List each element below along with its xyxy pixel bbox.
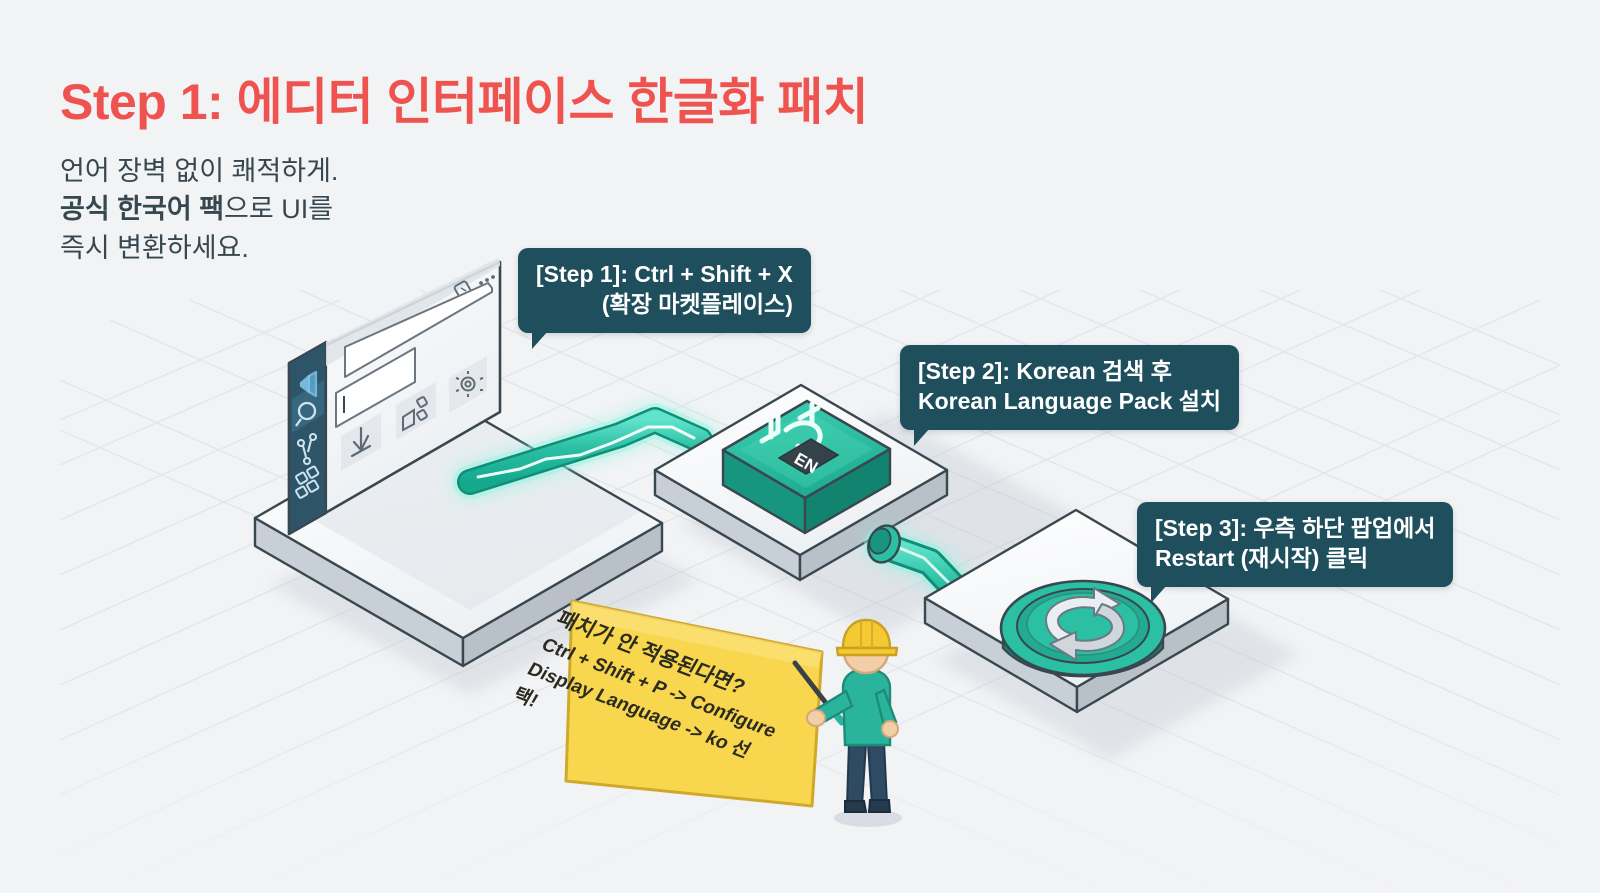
callout-step-3-line-2: Restart (재시작) 클릭 [1155, 544, 1435, 574]
callout-step-1-line-2: (확장 마켓플레이스) [536, 290, 793, 320]
callout-step-1-line-1: [Step 1]: Ctrl + Shift + X [536, 260, 793, 290]
page-title: Step 1: 에디터 인터페이스 한글화 패치 [60, 62, 868, 134]
subtitle-line-2: 공식 한국어 팩으로 UI를 [60, 190, 338, 228]
subtitle-line-1: 언어 장벽 없이 쾌적하게. [60, 152, 338, 190]
restart-node[interactable] [1001, 581, 1165, 676]
callout-step-3-line-1: [Step 3]: 우측 하단 팝업에서 [1155, 514, 1435, 544]
callout-step-2: [Step 2]: Korean 검색 후 Korean Language Pa… [900, 345, 1239, 430]
subtitle-line-2-rest: 으로 UI를 [224, 194, 333, 224]
warning-note: 패치가 안 적용된다면? Ctrl + Shift + P -> Configu… [560, 568, 822, 806]
callout-step-1: [Step 1]: Ctrl + Shift + X (확장 마켓플레이스) [518, 248, 811, 333]
callout-step-2-line-2: Korean Language Pack 설치 [918, 387, 1221, 417]
editor-sidebar [289, 342, 326, 534]
infographic-slide: EN [0, 0, 1600, 893]
callout-step-2-line-1: [Step 2]: Korean 검색 후 [918, 357, 1221, 387]
subtitle-block: 언어 장벽 없이 쾌적하게. 공식 한국어 팩으로 UI를 즉시 변환하세요. [60, 152, 338, 267]
callout-step-3: [Step 3]: 우측 하단 팝업에서 Restart (재시작) 클릭 [1137, 502, 1453, 587]
subtitle-line-3: 즉시 변환하세요. [60, 229, 338, 267]
subtitle-bold-phrase: 공식 한국어 팩 [60, 194, 224, 224]
